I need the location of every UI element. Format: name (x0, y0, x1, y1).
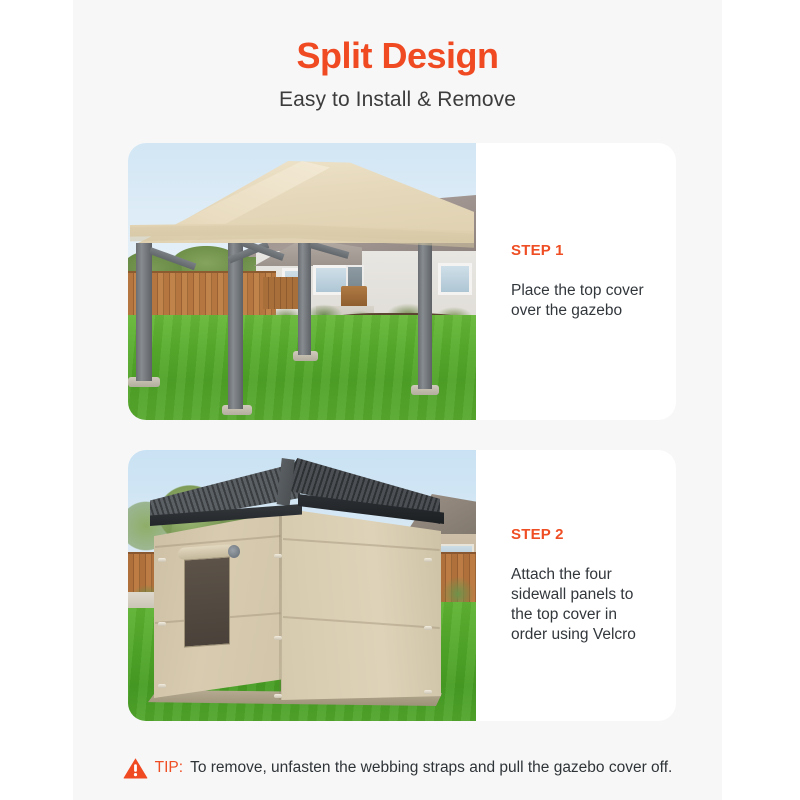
sidewall-panel-right (281, 508, 441, 700)
gazebo-post (418, 241, 432, 389)
velcro-clip (158, 558, 166, 562)
velcro-clip (424, 558, 432, 562)
velcro-clip (274, 694, 282, 698)
gazebo-post (136, 243, 152, 381)
step-2-label: STEP 2 (511, 526, 656, 543)
page-subtitle: Easy to Install & Remove (73, 88, 722, 112)
sidewall-window (184, 556, 230, 647)
tip-label: TIP: (155, 759, 183, 777)
tip-text: To remove, unfasten the webbing straps a… (190, 759, 672, 777)
step-1-photo (128, 143, 476, 420)
velcro-clip (274, 554, 282, 558)
step-2-photo (128, 450, 476, 721)
gazebo-post (298, 235, 311, 355)
velcro-clip (424, 690, 432, 694)
step-card-1: STEP 1 Place the top cover over the gaze… (128, 143, 676, 420)
step-2-text: STEP 2 Attach the four sidewall panels t… (476, 450, 676, 721)
velcro-clip (158, 622, 166, 626)
step-card-2: STEP 2 Attach the four sidewall panels t… (128, 450, 676, 721)
velcro-clip (274, 636, 282, 640)
step-1-label: STEP 1 (511, 242, 656, 259)
header: Split Design Easy to Install & Remove (73, 34, 722, 112)
step-1-description: Place the top cover over the gazebo (511, 281, 656, 321)
rolled-shade-end-cap (228, 545, 240, 558)
infographic-page: Split Design Easy to Install & Remove (0, 0, 800, 800)
velcro-clip (424, 626, 432, 630)
page-title: Split Design (73, 34, 722, 77)
step-2-description: Attach the four sidewall panels to the t… (511, 565, 656, 644)
velcro-clip (158, 684, 166, 688)
warning-triangle-icon (123, 757, 148, 779)
step-1-text: STEP 1 Place the top cover over the gaze… (476, 143, 676, 420)
tip-bar: TIP: To remove, unfasten the webbing str… (73, 757, 722, 779)
